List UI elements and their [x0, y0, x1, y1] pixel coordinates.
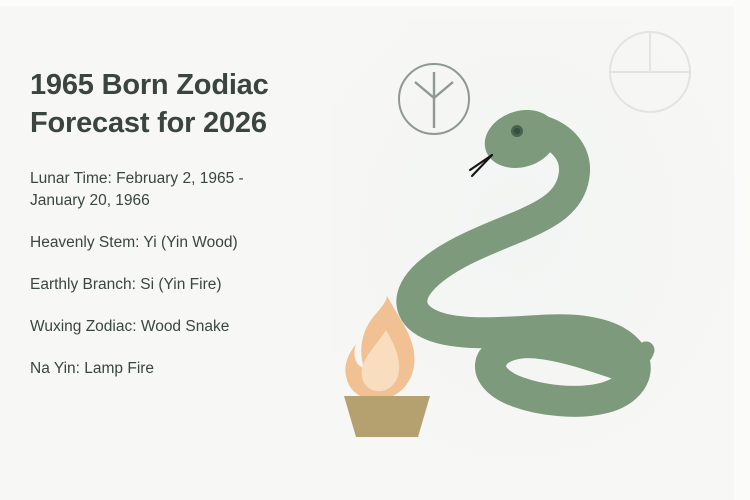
detail-lunar-time: Lunar Time: February 2, 1965 - January 2…	[30, 168, 360, 212]
right-edge-band	[734, 0, 750, 500]
rune-circle-icon	[399, 64, 469, 134]
page-title: 1965 Born Zodiac Forecast for 2026	[30, 66, 360, 142]
top-edge-band	[0, 0, 750, 6]
detail-heavenly-stem: Heavenly Stem: Yi (Yin Wood)	[30, 232, 360, 254]
detail-wuxing-zodiac: Wuxing Zodiac: Wood Snake	[30, 316, 360, 338]
detail-na-yin: Na Yin: Lamp Fire	[30, 358, 360, 380]
detail-earthly-branch: Earthly Branch: Si (Yin Fire)	[30, 274, 360, 296]
artwork-glow	[330, 20, 750, 480]
zodiac-forecast-card: 1965 Born Zodiac Forecast for 2026 Lunar…	[0, 0, 750, 500]
snake-illustration	[412, 101, 646, 401]
quartered-circle-icon	[610, 32, 690, 112]
text-column: 1965 Born Zodiac Forecast for 2026 Lunar…	[30, 66, 360, 380]
